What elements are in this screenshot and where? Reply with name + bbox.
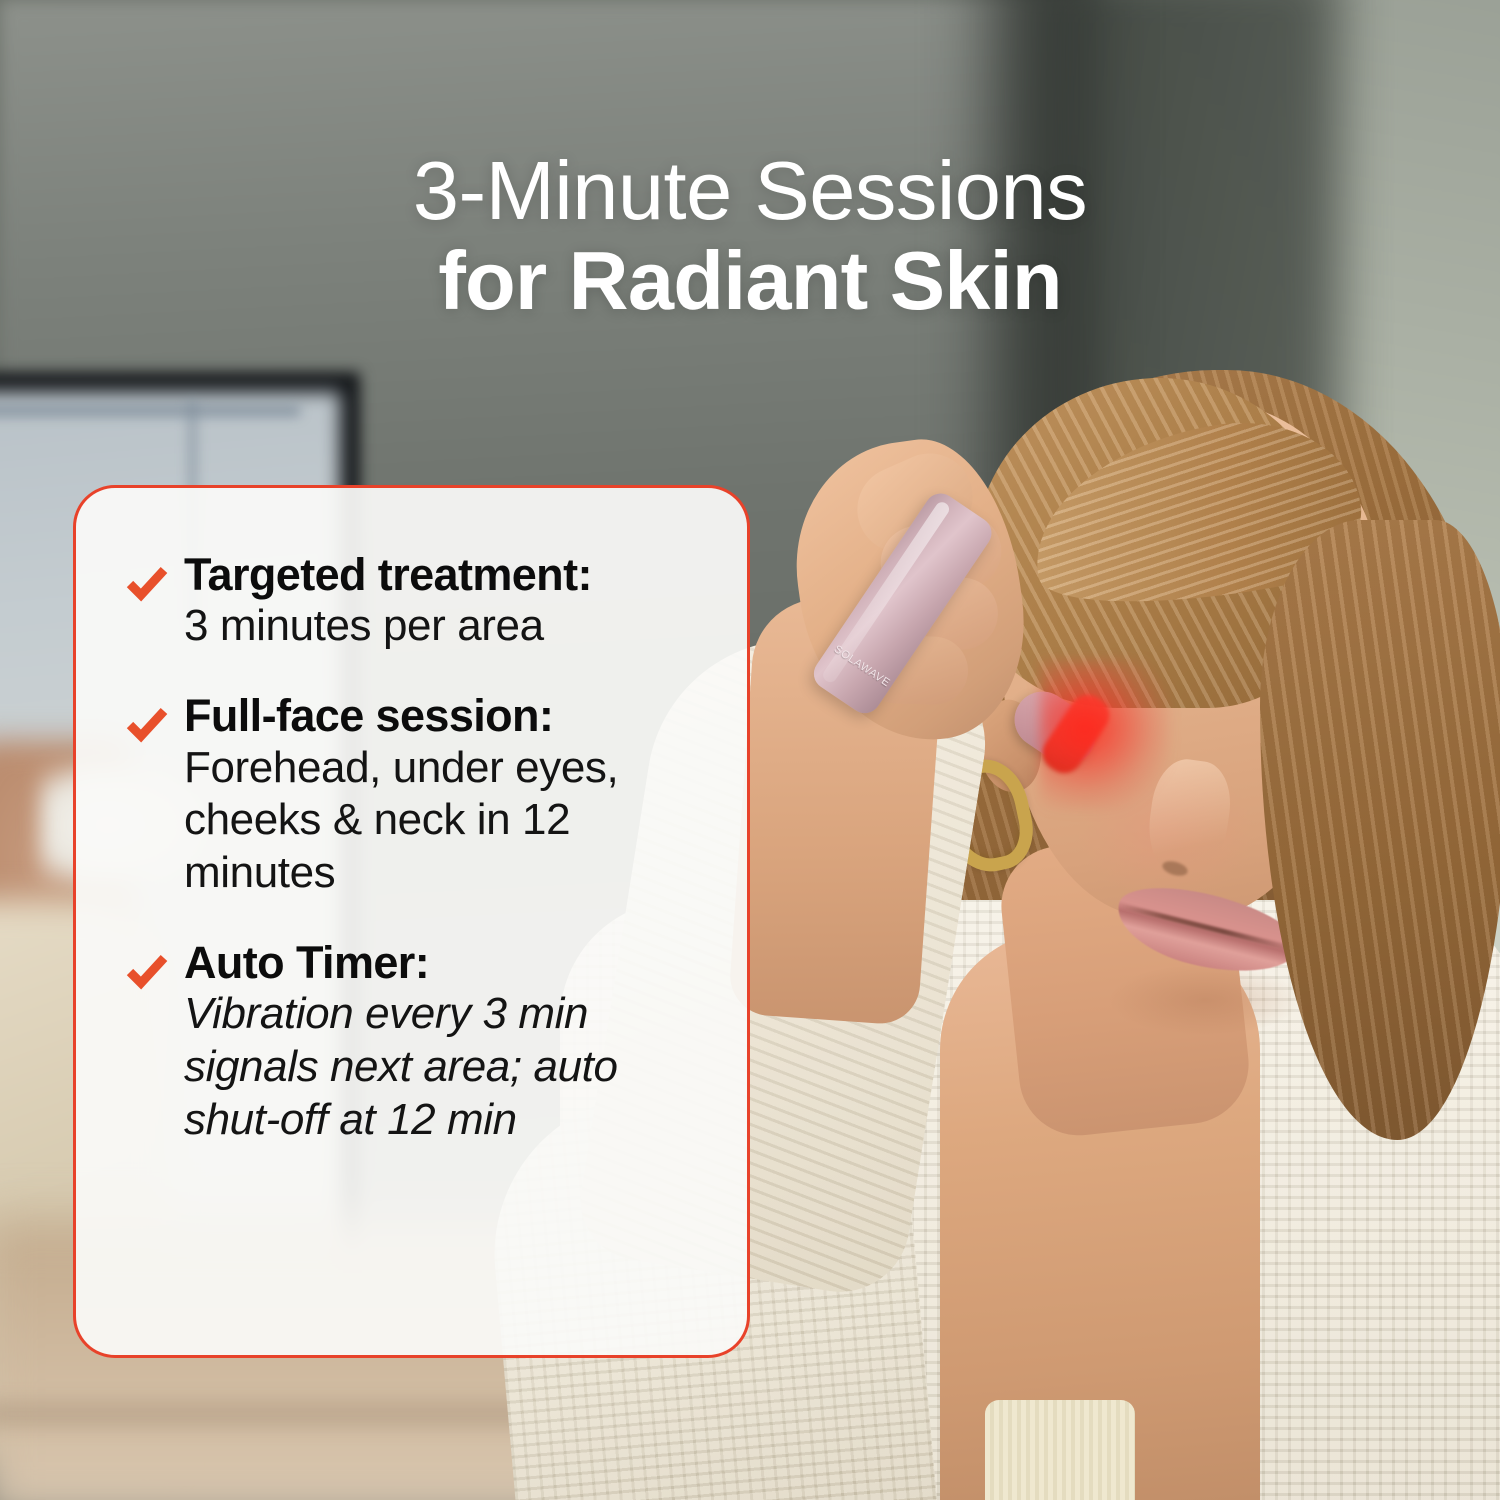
- list-item: Auto Timer: Vibration every 3 min signal…: [124, 938, 713, 1147]
- list-item: Targeted treatment: 3 minutes per area: [124, 550, 713, 653]
- bullet-title: Targeted treatment:: [184, 550, 713, 600]
- bullet-body: 3 minutes per area: [184, 600, 713, 653]
- bullet-title: Full-face session:: [184, 691, 713, 741]
- bullet-body: Vibration every 3 min signals next area;…: [184, 988, 713, 1146]
- bullet-text: Auto Timer: Vibration every 3 min signal…: [184, 938, 713, 1147]
- feature-bullet-list: Targeted treatment: 3 minutes per area F…: [124, 550, 713, 1147]
- bullet-text: Full-face session: Forehead, under eyes,…: [184, 691, 713, 900]
- bullet-text: Targeted treatment: 3 minutes per area: [184, 550, 713, 653]
- list-item: Full-face session: Forehead, under eyes,…: [124, 691, 713, 900]
- feature-card: Targeted treatment: 3 minutes per area F…: [73, 485, 750, 1358]
- check-icon: [124, 948, 170, 994]
- bullet-title: Auto Timer:: [184, 938, 713, 988]
- check-icon: [124, 560, 170, 606]
- check-icon: [124, 701, 170, 747]
- promo-image: SOLAWAVE 3-Minute Sessions for Radiant S…: [0, 0, 1500, 1500]
- bullet-body: Forehead, under eyes, cheeks & neck in 1…: [184, 742, 713, 900]
- camisole: [985, 1400, 1135, 1500]
- chin-shadow: [1110, 965, 1300, 1035]
